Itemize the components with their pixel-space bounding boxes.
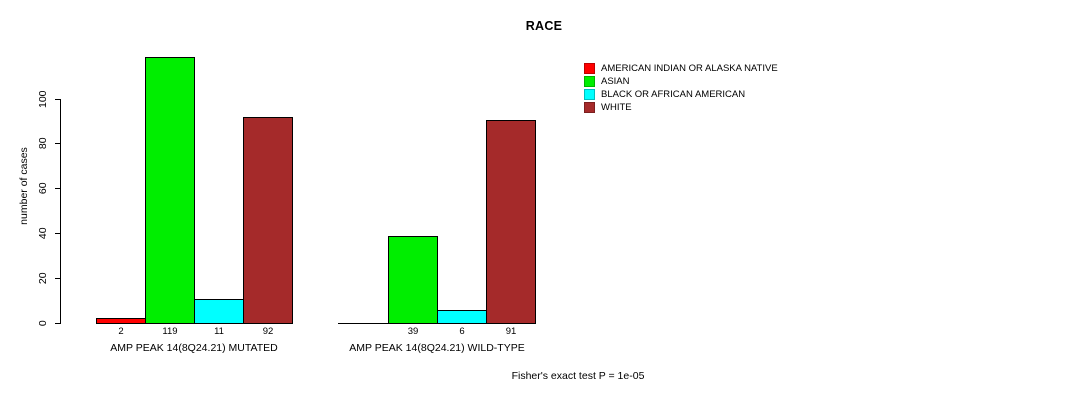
y-tick-mark-60 [55, 188, 60, 189]
legend-item-asian[interactable]: ASIAN [584, 75, 778, 87]
bar-group2-black-african-american[interactable] [437, 310, 487, 324]
bar-count-label-group1-asian: 119 [145, 326, 195, 337]
y-tick-label-100: 100 [33, 94, 53, 105]
y-tick-mark-0 [55, 323, 60, 324]
y-tick-label-20-text: 20 [38, 268, 49, 288]
y-tick-label-80: 80 [33, 138, 53, 149]
y-axis-line [60, 99, 61, 324]
legend: AMERICAN INDIAN OR ALASKA NATIVE ASIAN B… [584, 62, 778, 114]
legend-label-american-indian: AMERICAN INDIAN OR ALASKA NATIVE [601, 63, 778, 74]
race-bar-chart: RACE 0 20 40 60 80 100 number of cases 2… [0, 0, 1090, 400]
bar-count-label-group2-asian: 39 [388, 326, 438, 337]
bar-group1-asian[interactable] [145, 57, 195, 324]
legend-label-black-african-american: BLACK OR AFRICAN AMERICAN [601, 89, 745, 100]
y-tick-label-0: 0 [33, 318, 53, 329]
chart-title: RACE [0, 19, 1089, 33]
y-tick-mark-100 [55, 99, 60, 100]
legend-item-american-indian[interactable]: AMERICAN INDIAN OR ALASKA NATIVE [584, 62, 778, 74]
legend-swatch-asian [584, 76, 595, 87]
legend-item-black-african-american[interactable]: BLACK OR AFRICAN AMERICAN [584, 88, 778, 100]
legend-label-asian: ASIAN [601, 76, 630, 87]
legend-swatch-black-african-american [584, 89, 595, 100]
legend-label-white: WHITE [601, 102, 632, 113]
bar-group2-asian[interactable] [388, 236, 438, 324]
y-tick-label-80-text: 80 [38, 133, 49, 153]
y-tick-label-60: 60 [33, 183, 53, 194]
y-tick-label-20: 20 [33, 273, 53, 284]
y-tick-label-0-text: 0 [38, 313, 49, 333]
legend-item-white[interactable]: WHITE [584, 101, 778, 113]
bar-group1-american-indian[interactable] [96, 318, 146, 324]
y-axis-title: number of cases [18, 126, 30, 246]
y-tick-mark-40 [55, 233, 60, 234]
bar-count-label-group2-white: 91 [486, 326, 536, 337]
y-tick-label-40: 40 [33, 228, 53, 239]
bar-group2-white[interactable] [486, 120, 536, 324]
bar-group1-black-african-american[interactable] [194, 299, 244, 324]
bar-count-label-group2-black-african-american: 6 [437, 326, 487, 337]
bar-group1-white[interactable] [243, 117, 293, 324]
y-tick-label-100-text: 100 [38, 89, 49, 109]
y-tick-mark-80 [55, 143, 60, 144]
bar-group2-american-indian-zero[interactable] [338, 318, 388, 324]
bar-count-label-group1-black-african-american: 11 [194, 326, 244, 337]
y-tick-label-60-text: 60 [38, 178, 49, 198]
bar-count-label-group1-american-indian: 2 [96, 326, 146, 337]
statistical-test-annotation: Fisher's exact test P = 1e-05 [33, 370, 1090, 382]
legend-swatch-white [584, 102, 595, 113]
group-label-wild-type: AMP PEAK 14(8Q24.21) WILD-TYPE [287, 342, 587, 354]
y-tick-label-40-text: 40 [38, 223, 49, 243]
legend-swatch-american-indian [584, 63, 595, 74]
y-tick-mark-20 [55, 278, 60, 279]
bar-count-label-group1-white: 92 [243, 326, 293, 337]
